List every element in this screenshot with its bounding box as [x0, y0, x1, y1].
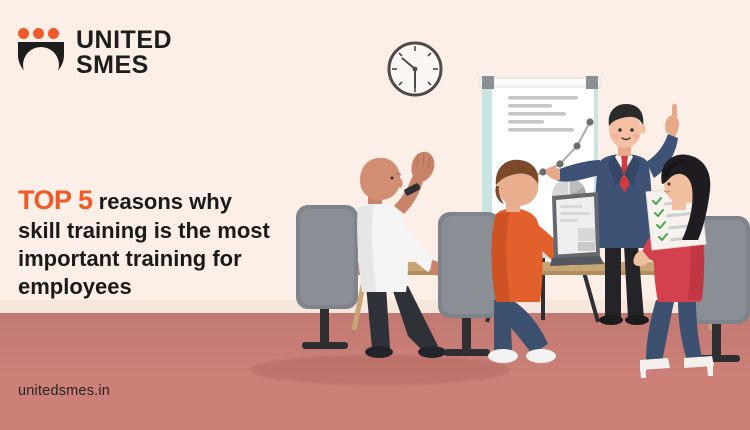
logo-line-1: UNITED	[76, 28, 172, 53]
page-title: TOP 5 reasons why skill training is the …	[18, 183, 280, 301]
laptop	[550, 192, 604, 266]
brand-logo[interactable]: UNITED SMES	[18, 28, 172, 78]
united-smes-logo-mark-icon	[18, 28, 64, 78]
logo-dot-2	[33, 28, 44, 39]
logo-dot-1	[18, 28, 29, 39]
text-panel: UNITED SMES TOP 5 reasons why skill trai…	[0, 0, 295, 430]
wall-clock-icon	[389, 43, 441, 95]
headline-accent: TOP 5	[18, 185, 93, 215]
logo-dots	[18, 28, 59, 39]
website-url[interactable]: unitedsmes.in	[18, 383, 110, 399]
attendee-bald-man	[296, 152, 450, 358]
logo-wordmark: UNITED SMES	[76, 28, 172, 78]
logo-mark-circle	[23, 47, 59, 83]
logo-line-2: SMES	[76, 53, 172, 78]
banner: UNITED SMES TOP 5 reasons why skill trai…	[0, 0, 750, 430]
logo-dot-3	[48, 28, 59, 39]
